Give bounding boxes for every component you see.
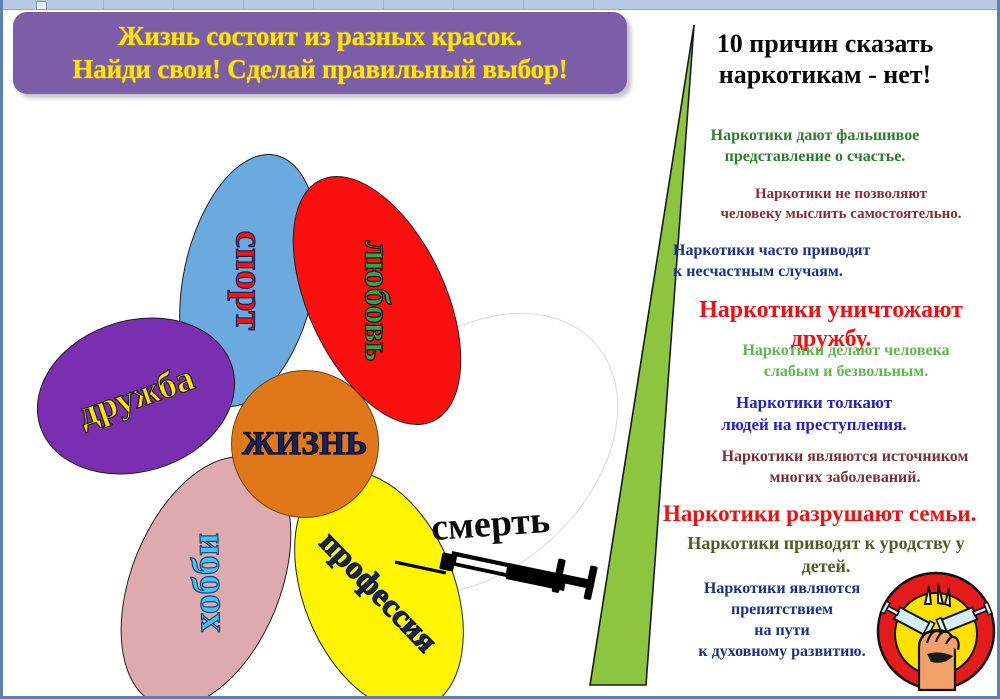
reason-item-6: Наркотики толкают людей на преступления. (669, 392, 959, 436)
petal-sport-label: спорт (227, 231, 272, 331)
stop-drugs-icon (875, 570, 997, 692)
reason-item-7: Наркотики являются источником многих заб… (695, 446, 995, 488)
reason-item-2: Наркотики не позволяют человеку мыслить … (691, 184, 991, 224)
ruler-strip (3, 0, 1000, 10)
life-flower-diagram: спорт любовь дружба хобби профессия ЖИЗН… (3, 120, 643, 690)
reason-item-10: Наркотики являются препятствием на пути … (657, 578, 907, 662)
reason-item-3: Наркотики часто приводят к несчастным сл… (673, 240, 973, 282)
syringe-icon (395, 524, 610, 604)
reason-item-8: Наркотики разрушают семьи. (663, 500, 993, 528)
flower-center-label: ЖИЗНЬ (242, 426, 368, 463)
petal-druzhba-label: дружба (72, 356, 200, 436)
title-line-1: Жизнь состоит из разных красок. (118, 20, 522, 53)
panel-heading-line-1: 10 причин сказать (657, 28, 993, 59)
panel-heading-line-2: наркотикам - нет! (657, 59, 993, 90)
reason-item-1: Наркотики дают фальшивое представление о… (665, 125, 965, 167)
title-banner[interactable]: Жизнь состоит из разных красок. Найди св… (13, 12, 627, 94)
flower-center-zhizn[interactable]: ЖИЗНЬ (231, 370, 379, 518)
reason-item-5: Наркотики делают человека слабым и безво… (701, 340, 991, 382)
slide-canvas: Жизнь состоит из разных красок. Найди св… (0, 0, 1000, 699)
title-line-2: Найди свои! Сделай правильный выбор! (73, 53, 568, 86)
petal-hobbi-label: хобби (183, 532, 230, 632)
ruler-indent-handle[interactable] (36, 1, 47, 10)
panel-heading: 10 причин сказать наркотикам - нет! (657, 28, 993, 90)
petal-lyubov-label: любовь (356, 240, 398, 361)
